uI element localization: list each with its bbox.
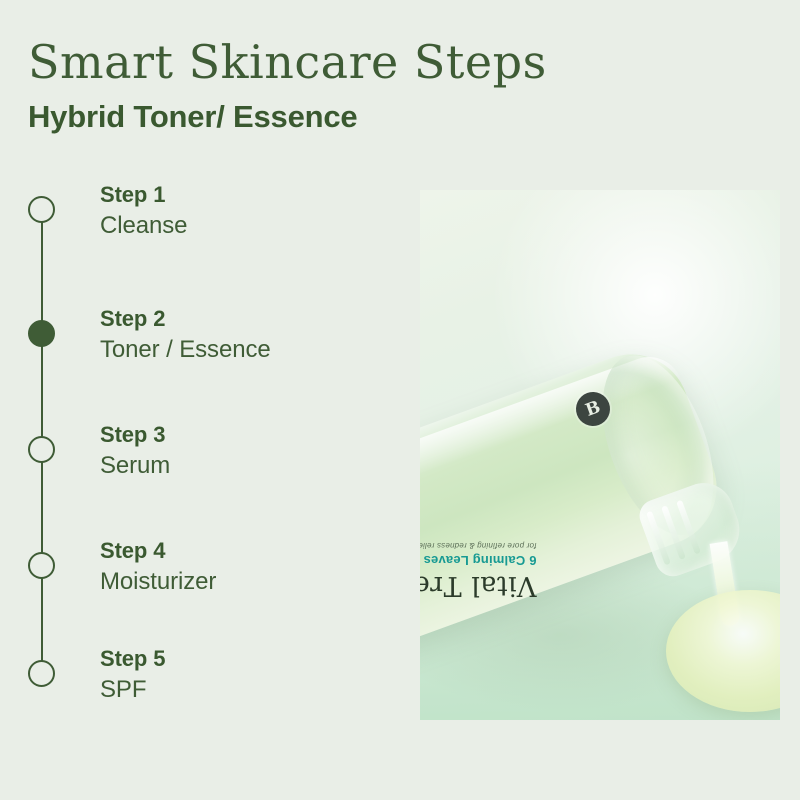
step-text: Step 1 Cleanse xyxy=(100,182,187,241)
step-item-2[interactable]: Step 2 Toner / Essence xyxy=(0,306,400,370)
circle-filled-icon[interactable] xyxy=(28,320,55,347)
bottle-label-claim: for pore refining & redness relief xyxy=(420,541,536,550)
circle-outline-icon[interactable] xyxy=(28,660,55,687)
bottle-label-variant: 6 Calming Leaves xyxy=(420,553,536,568)
header: Smart Skincare Steps Hybrid Toner/ Essen… xyxy=(28,38,668,133)
step-label: Step 2 xyxy=(100,306,271,332)
step-description: SPF xyxy=(100,676,165,705)
step-text: Step 5 SPF xyxy=(100,646,165,705)
step-label: Step 3 xyxy=(100,422,170,448)
step-description: Toner / Essence xyxy=(100,336,271,365)
steps-timeline: Step 1 Cleanse Step 2 Toner / Essence St… xyxy=(0,182,400,722)
step-label: Step 4 xyxy=(100,538,216,564)
step-description: Serum xyxy=(100,452,170,481)
step-text: Step 4 Moisturizer xyxy=(100,538,216,597)
product-photo: Vital Treatment 6 Calming Leaves for por… xyxy=(420,190,780,720)
circle-outline-icon[interactable] xyxy=(28,196,55,223)
circle-outline-icon[interactable] xyxy=(28,436,55,463)
step-item-4[interactable]: Step 4 Moisturizer xyxy=(0,538,400,602)
step-item-1[interactable]: Step 1 Cleanse xyxy=(0,182,400,246)
step-text: Step 2 Toner / Essence xyxy=(100,306,271,365)
step-item-3[interactable]: Step 3 Serum xyxy=(0,422,400,486)
skincare-steps-infographic: Smart Skincare Steps Hybrid Toner/ Essen… xyxy=(0,0,800,800)
page-subtitle: Hybrid Toner/ Essence xyxy=(28,101,668,134)
bottle-label: Vital Treatment 6 Calming Leaves for por… xyxy=(420,459,536,599)
step-description: Cleanse xyxy=(100,212,187,241)
page-title: Smart Skincare Steps xyxy=(28,38,668,87)
step-text: Step 3 Serum xyxy=(100,422,170,481)
step-item-5[interactable]: Step 5 SPF xyxy=(0,646,400,710)
step-label: Step 5 xyxy=(100,646,165,672)
step-description: Moisturizer xyxy=(100,568,216,597)
bottle-label-brand: Vital Treatment xyxy=(420,571,536,599)
step-label: Step 1 xyxy=(100,182,187,208)
circle-outline-icon[interactable] xyxy=(28,552,55,579)
